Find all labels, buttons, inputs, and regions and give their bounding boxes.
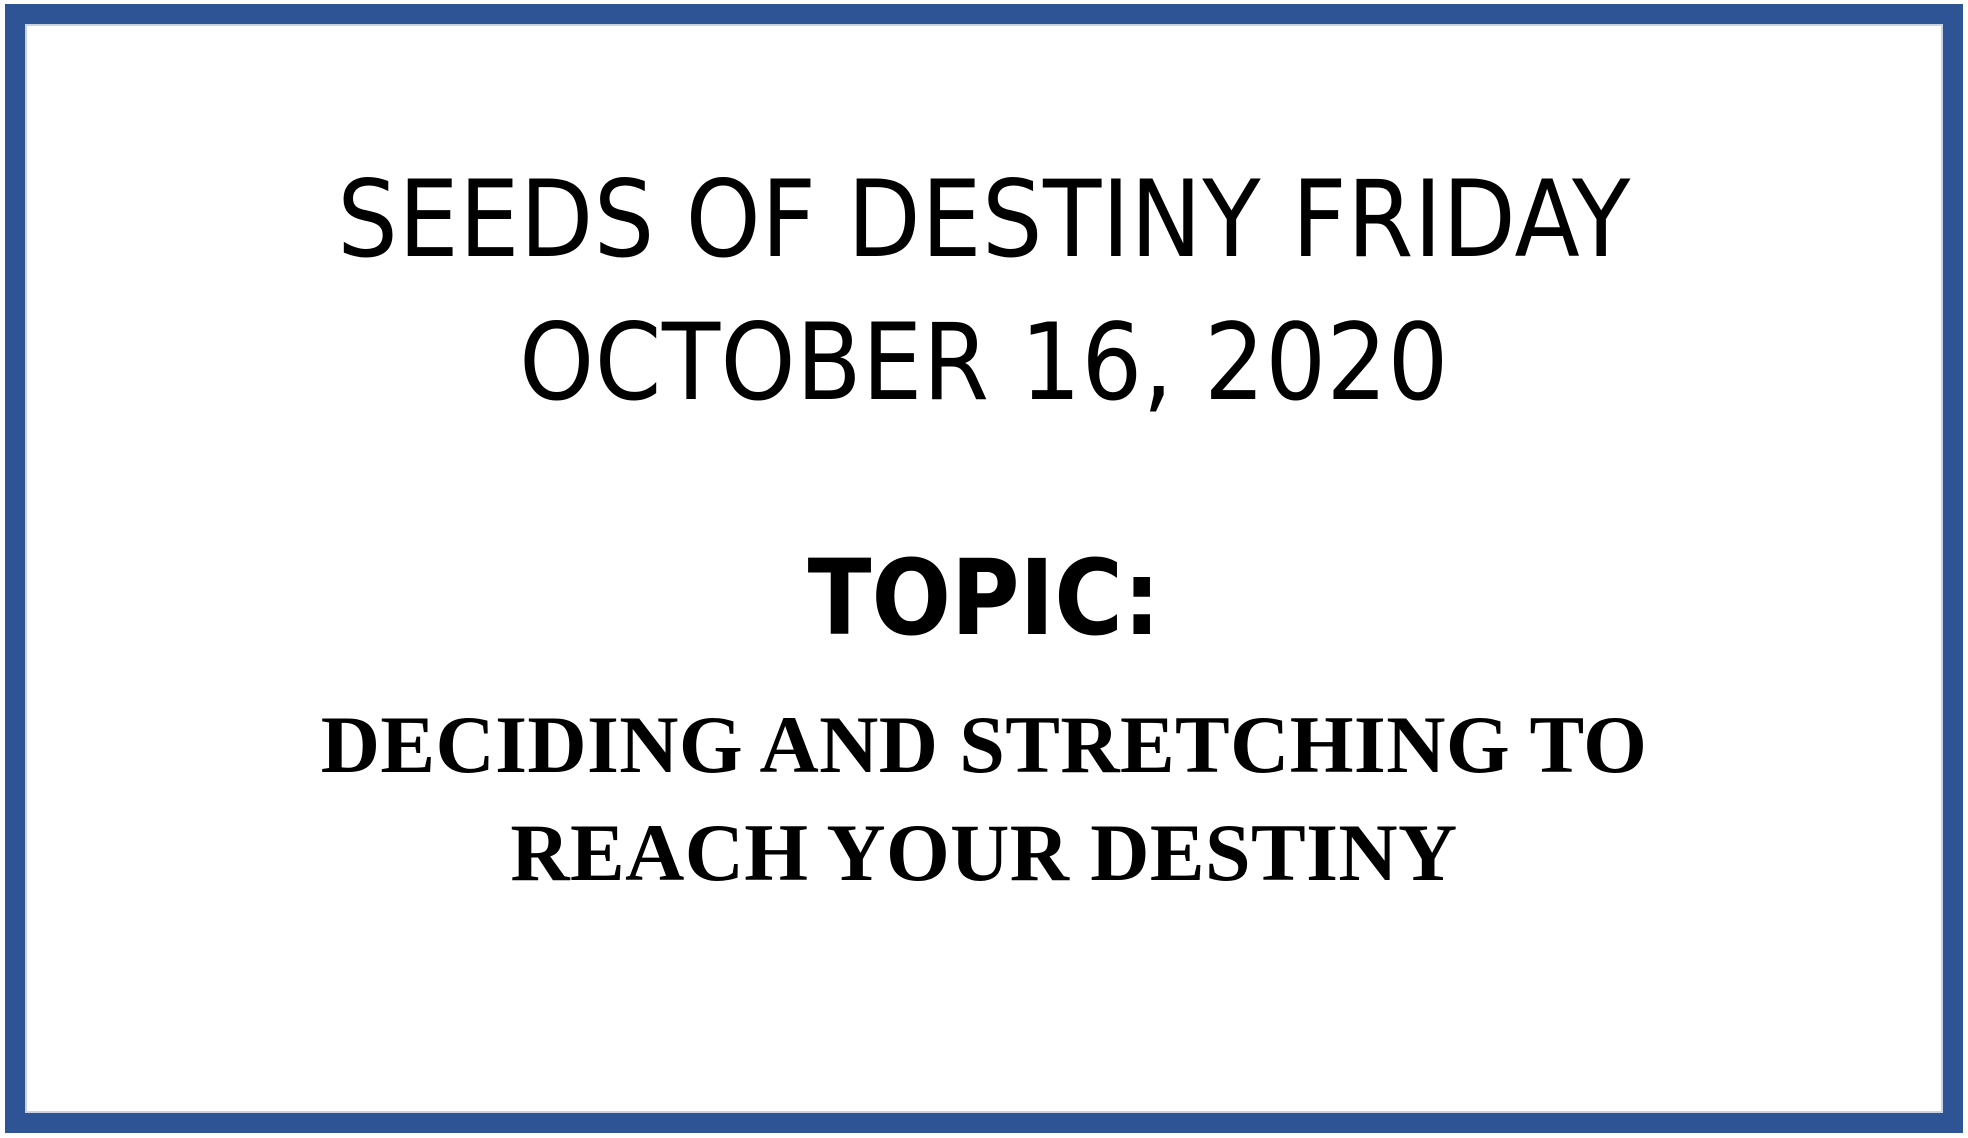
heading-block: SEEDS OF DESTINY FRIDAY OCTOBER 16, 2020 — [85, 148, 1883, 434]
topic-text-line-1: DECIDING AND STRETCHING TO — [321, 691, 1648, 799]
topic-text: DECIDING AND STRETCHING TO REACH YOUR DE… — [321, 691, 1648, 907]
slide-content: SEEDS OF DESTINY FRIDAY OCTOBER 16, 2020… — [25, 24, 1943, 1113]
topic-label: TOPIC: — [808, 540, 1161, 656]
slide-border-frame: SEEDS OF DESTINY FRIDAY OCTOBER 16, 2020… — [5, 4, 1963, 1133]
presentation-slide: SEEDS OF DESTINY FRIDAY OCTOBER 16, 2020… — [0, 0, 1968, 1138]
heading-line-1: SEEDS OF DESTINY FRIDAY — [85, 148, 1883, 291]
heading-line-2: OCTOBER 16, 2020 — [85, 291, 1883, 434]
topic-text-line-2: REACH YOUR DESTINY — [321, 799, 1648, 907]
